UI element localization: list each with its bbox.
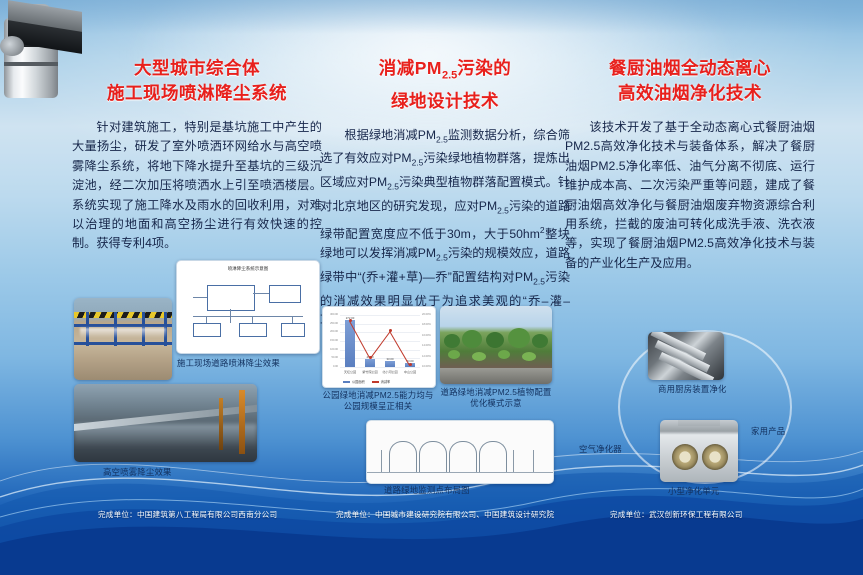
- column-construction-spray: 大型城市综合体 施工现场喷淋降尘系统 针对建筑施工，特别是基坑施工中产生的大量扬…: [72, 56, 322, 254]
- chart-x-tick: 中山公园: [398, 369, 422, 374]
- photo-site-road-spray: [74, 298, 172, 380]
- legend-item-bar: 公园面积: [343, 380, 365, 384]
- photo-highrise-mist: [74, 384, 257, 462]
- column3-title: 餐厨油烟全动态离心 高效油烟净化技术: [565, 56, 815, 106]
- chart-y-tick: 300.00: [323, 313, 338, 316]
- chart-y-tick: 200.00: [323, 330, 338, 333]
- column3-title-line1: 餐厨油烟全动态离心: [565, 56, 815, 81]
- chart-y2-tick: 18.00%: [422, 323, 436, 326]
- background-top-strip: [0, 0, 863, 34]
- chart-y-tick: 100.00: [323, 348, 338, 351]
- chart-gridline: [340, 367, 420, 368]
- column1-title: 大型城市综合体 施工现场喷淋降尘系统: [72, 56, 322, 106]
- caption-highrise-mist: 高空喷雾降尘效果: [103, 466, 172, 478]
- label-small-unit: 小型净化单元: [668, 485, 719, 497]
- footer-credit-column3: 完成单位：武汉创新环保工程有限公司: [610, 509, 743, 520]
- chart-park-pm25-correlation: 0.0050.00100.00150.00200.00250.00300.001…: [322, 306, 436, 388]
- label-air-purifier: 空气净化器: [579, 443, 622, 455]
- chart-y-tick: 150.00: [323, 339, 338, 342]
- footer-credit-column2: 完成单位：中国城市建设研究院有限公司、中国建筑设计研究院: [336, 509, 554, 520]
- column1-title-line2: 施工现场喷淋降尘系统: [72, 81, 322, 106]
- column-pm25-greenspace: 消减PM2.5污染的 绿地设计技术 根据绿地消减PM2.5监测数据分析，综合筛选…: [320, 56, 570, 331]
- caption-chart-park: 公园绿地消减PM2.5能力均与公园规模呈正相关: [322, 390, 434, 412]
- column3-title-line2: 高效油烟净化技术: [565, 81, 815, 106]
- poster-canvas: 大型城市综合体 施工现场喷淋降尘系统 针对建筑施工，特别是基坑施工中产生的大量扬…: [0, 0, 863, 575]
- column2-title-line1: 消减PM2.5污染的: [320, 56, 570, 89]
- chart-legend: 公园面积 消减率: [343, 379, 390, 384]
- photo-commercial-kitchen-unit: [648, 332, 724, 380]
- label-commercial-kitchen: 商用厨房装置净化: [658, 383, 727, 395]
- photo-monitoring-layout: [366, 420, 554, 484]
- label-home-product: 家用产品: [751, 425, 785, 437]
- column2-title-post: 污染的: [457, 58, 511, 78]
- column2-title: 消减PM2.5污染的 绿地设计技术: [320, 56, 570, 114]
- chart-data-label: 23.00: [400, 359, 420, 363]
- chart-y-tick: 0.00: [323, 365, 338, 368]
- chart-plot-area: 0.0050.00100.00150.00200.00250.00300.001…: [340, 315, 420, 367]
- legend-item-line: 消减率: [372, 380, 391, 384]
- caption-plant-configuration: 道路绿地消减PM2.5植物配置优化模式示意: [440, 387, 552, 409]
- column-kitchen-fume-purification: 餐厨油烟全动态离心 高效油烟净化技术 该技术开发了基于全动态离心式餐厨油烟PM2…: [565, 56, 815, 273]
- column2-title-line2: 绿地设计技术: [320, 89, 570, 114]
- chart-bar: [365, 359, 375, 367]
- diagram-title: 喷淋降尘系统示意图: [177, 266, 319, 272]
- caption-monitoring-layout: 道路绿地监测点布局图: [384, 484, 470, 496]
- column1-title-line1: 大型城市综合体: [72, 56, 322, 81]
- chart-data-label: 33.00: [380, 357, 400, 361]
- chart-y2-tick: 20.00%: [422, 313, 436, 316]
- chart-y-tick: 250.00: [323, 322, 338, 325]
- column1-body-text: 针对建筑施工，特别是基坑施工中产生的大量扬尘，研发了室外喷洒环网给水与高空喷雾降…: [72, 118, 322, 254]
- photo-small-purification-unit: [660, 420, 738, 482]
- chart-y-tick: 50.00: [323, 356, 338, 359]
- photo-system-diagram: 喷淋降尘系统示意图: [176, 260, 320, 354]
- chart-bar: [385, 361, 395, 367]
- chart-line-segment: [370, 331, 391, 359]
- chart-y2-tick: 10.00%: [422, 365, 436, 368]
- chart-y2-tick: 12.00%: [422, 355, 436, 358]
- footer-credit-column1: 完成单位：中国建筑第八工程局有限公司西南分公司: [98, 509, 277, 520]
- column3-body-text: 该技术开发了基于全动态离心式餐厨油烟PM2.5高效净化技术与装备体系，解决了餐厨…: [565, 118, 815, 273]
- chart-y2-tick: 16.00%: [422, 334, 436, 337]
- column2-body-text: 根据绿地消减PM2.5监测数据分析，综合筛选了有效应对PM2.5污染绿地植物群落…: [320, 126, 570, 331]
- photo-plant-configuration: [440, 306, 552, 384]
- caption-site-road-spray: 施工现场道路喷淋降尘效果: [177, 357, 280, 369]
- column2-title-subscript: 2.5: [442, 70, 457, 82]
- column2-title-pre: 消减PM: [379, 58, 442, 78]
- chart-y2-tick: 14.00%: [422, 344, 436, 347]
